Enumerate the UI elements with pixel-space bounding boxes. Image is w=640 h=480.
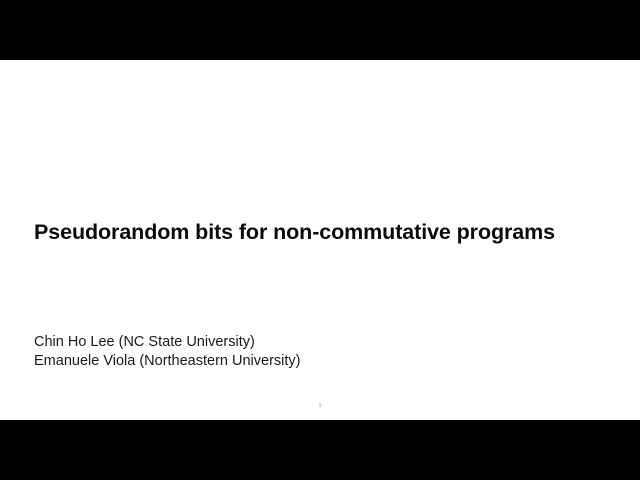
author-list: Chin Ho Lee (NC State University) Emanue…	[34, 333, 514, 370]
author-line: Chin Ho Lee (NC State University)	[34, 333, 514, 352]
letterbox-bar-top	[0, 0, 640, 60]
letterbox-bar-bottom	[0, 420, 640, 480]
presentation-slide: Pseudorandom bits for non-commutative pr…	[0, 60, 640, 420]
video-player-frame: Pseudorandom bits for non-commutative pr…	[0, 0, 640, 480]
author-line: Emanuele Viola (Northeastern University)	[34, 352, 514, 371]
slide-title: Pseudorandom bits for non-commutative pr…	[34, 220, 614, 246]
slide-page-number: 1	[0, 402, 640, 410]
